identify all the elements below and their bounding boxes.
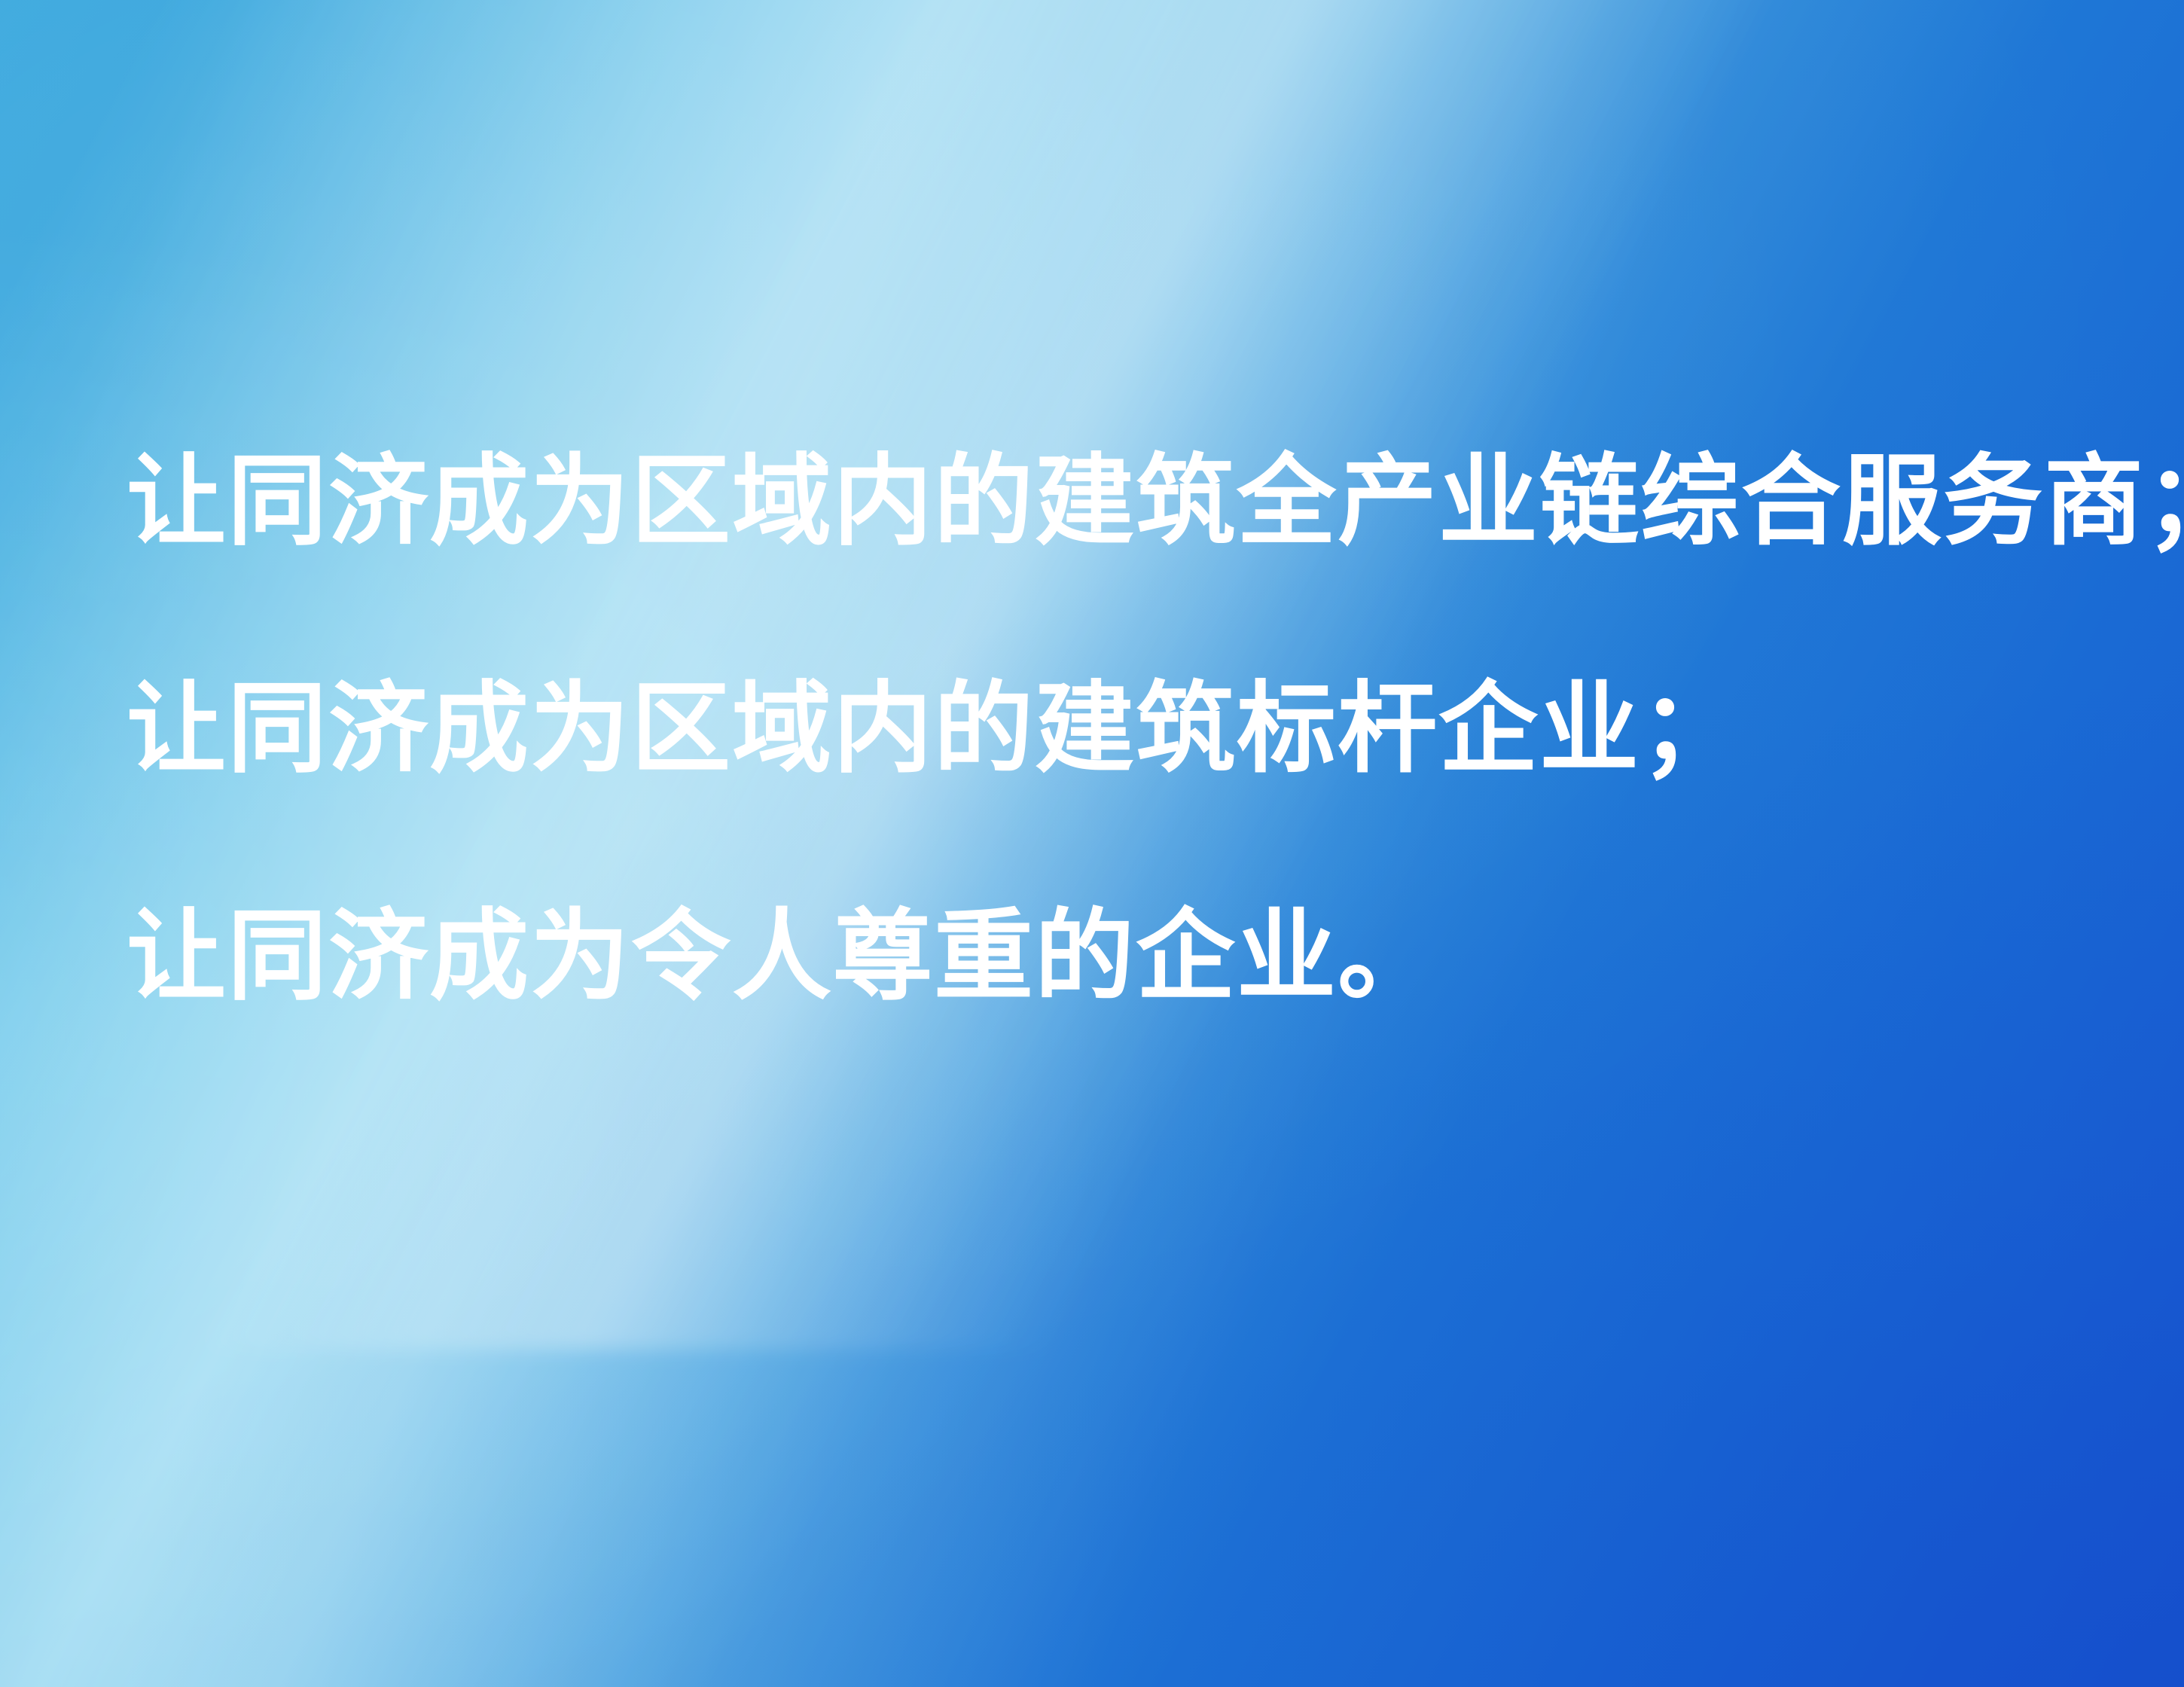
vision-line-2: 让同济成为区域内的建筑标杆企业； [127,679,2085,779]
vision-text-block: 让同济成为区域内的建筑全产业链综合服务商； 让同济成为区域内的建筑标杆企业； 让… [127,452,2085,1006]
vision-line-1: 让同济成为区域内的建筑全产业链综合服务商； [127,452,2085,551]
vision-line-3: 让同济成为令人尊重的企业。 [127,907,2085,1006]
slide-canvas: 让同济成为区域内的建筑全产业链综合服务商； 让同济成为区域内的建筑标杆企业； 让… [0,0,2184,1687]
